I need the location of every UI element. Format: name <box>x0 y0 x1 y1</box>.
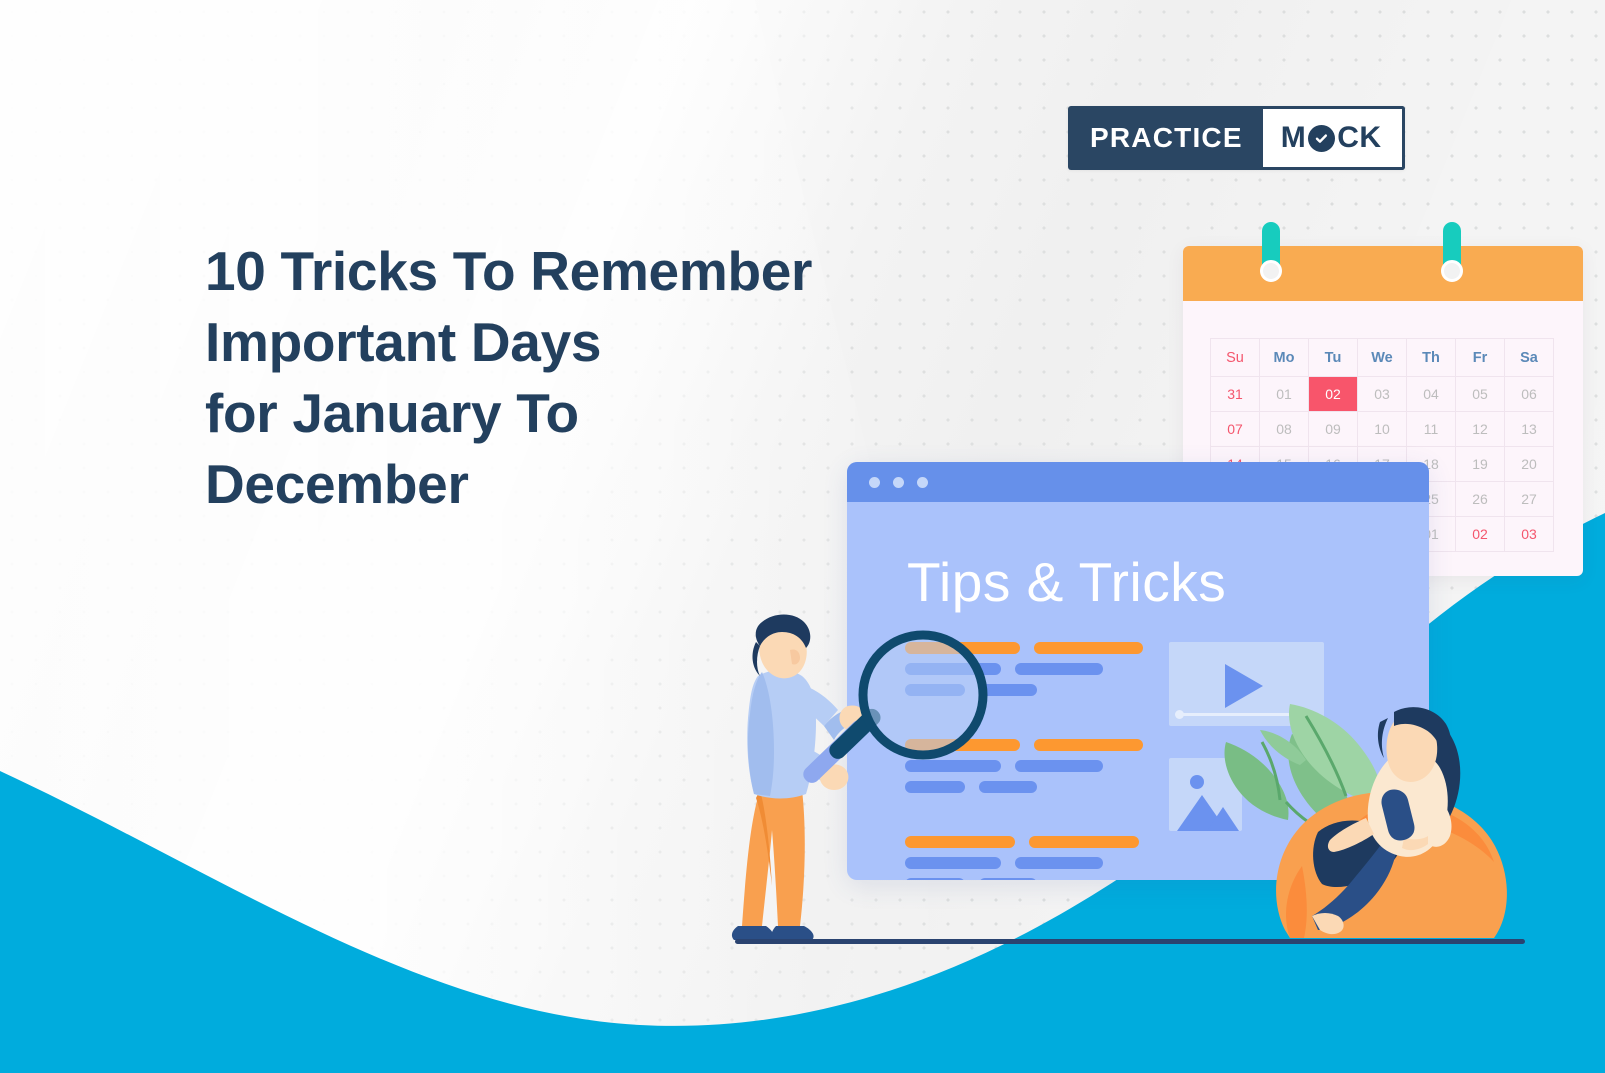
calendar-day[interactable]: 06 <box>1505 377 1554 412</box>
calendar-day[interactable]: 26 <box>1456 482 1505 517</box>
calendar-day[interactable]: 02 <box>1456 517 1505 552</box>
calendar-day[interactable]: 07 <box>1211 412 1260 447</box>
calendar-weekday-fr: Fr <box>1456 339 1505 377</box>
calendar-day[interactable]: 09 <box>1309 412 1358 447</box>
media-placeholder-column <box>1169 642 1329 880</box>
calendar-ring-right <box>1443 222 1461 280</box>
calendar-day[interactable]: 08 <box>1260 412 1309 447</box>
logo-mock-block: M CK <box>1263 106 1405 170</box>
calendar-day[interactable]: 10 <box>1358 412 1407 447</box>
headline-line-2: Important Days <box>205 307 945 378</box>
calendar-day[interactable]: 13 <box>1505 412 1554 447</box>
video-thumbnail[interactable] <box>1169 642 1324 726</box>
logo-practice-text: PRACTICE <box>1068 106 1263 170</box>
calendar-ring-left <box>1262 222 1280 280</box>
headline-line-3: for January To <box>205 378 945 449</box>
text-block <box>905 836 1143 880</box>
calendar-weekday-we: We <box>1358 339 1407 377</box>
calendar-day[interactable]: 27 <box>1505 482 1554 517</box>
brand-logo[interactable]: PRACTICE M CK <box>1068 106 1405 170</box>
calendar-header-band <box>1183 246 1583 301</box>
calendar-weekday-th: Th <box>1407 339 1456 377</box>
calendar-day[interactable]: 11 <box>1407 412 1456 447</box>
calendar-day[interactable]: 31 <box>1211 377 1260 412</box>
browser-window-mock[interactable]: Tips & Tricks <box>847 462 1429 880</box>
calendar-day[interactable]: 20 <box>1505 447 1554 482</box>
calendar-day[interactable]: 03 <box>1505 517 1554 552</box>
calendar-day[interactable]: 04 <box>1407 377 1456 412</box>
browser-content <box>847 614 1429 880</box>
poster-canvas: SuMoTuWeThFrSa31010203040506070809101112… <box>0 0 1605 1073</box>
calendar-weekday-sa: Sa <box>1505 339 1554 377</box>
calendar-day[interactable]: 12 <box>1456 412 1505 447</box>
video-progress-track[interactable] <box>1178 713 1314 716</box>
image-sun-icon <box>1190 775 1204 789</box>
image-mountain-icon-2 <box>1207 807 1239 831</box>
page-title: 10 Tricks To Remember Important Days for… <box>205 236 945 520</box>
video-progress-knob[interactable] <box>1175 710 1184 719</box>
text-block <box>905 642 1143 705</box>
calendar-day[interactable]: 01 <box>1260 377 1309 412</box>
calendar-weekday-su: Su <box>1211 339 1260 377</box>
calendar-day-selected[interactable]: 02 <box>1309 377 1358 412</box>
logo-mock-pre: M <box>1281 121 1307 155</box>
calendar-day[interactable]: 19 <box>1456 447 1505 482</box>
headline-line-1: 10 Tricks To Remember <box>205 236 945 307</box>
logo-mock-post: CK <box>1337 121 1381 155</box>
play-icon[interactable] <box>1225 664 1263 708</box>
calendar-weekday-mo: Mo <box>1260 339 1309 377</box>
calendar-day[interactable]: 05 <box>1456 377 1505 412</box>
image-thumbnail[interactable] <box>1169 758 1242 831</box>
calendar-weekday-tu: Tu <box>1309 339 1358 377</box>
text-placeholder-column <box>905 642 1143 880</box>
check-icon <box>1308 125 1335 152</box>
calendar-day[interactable]: 03 <box>1358 377 1407 412</box>
text-block <box>905 739 1143 802</box>
headline-line-4: December <box>205 449 945 520</box>
